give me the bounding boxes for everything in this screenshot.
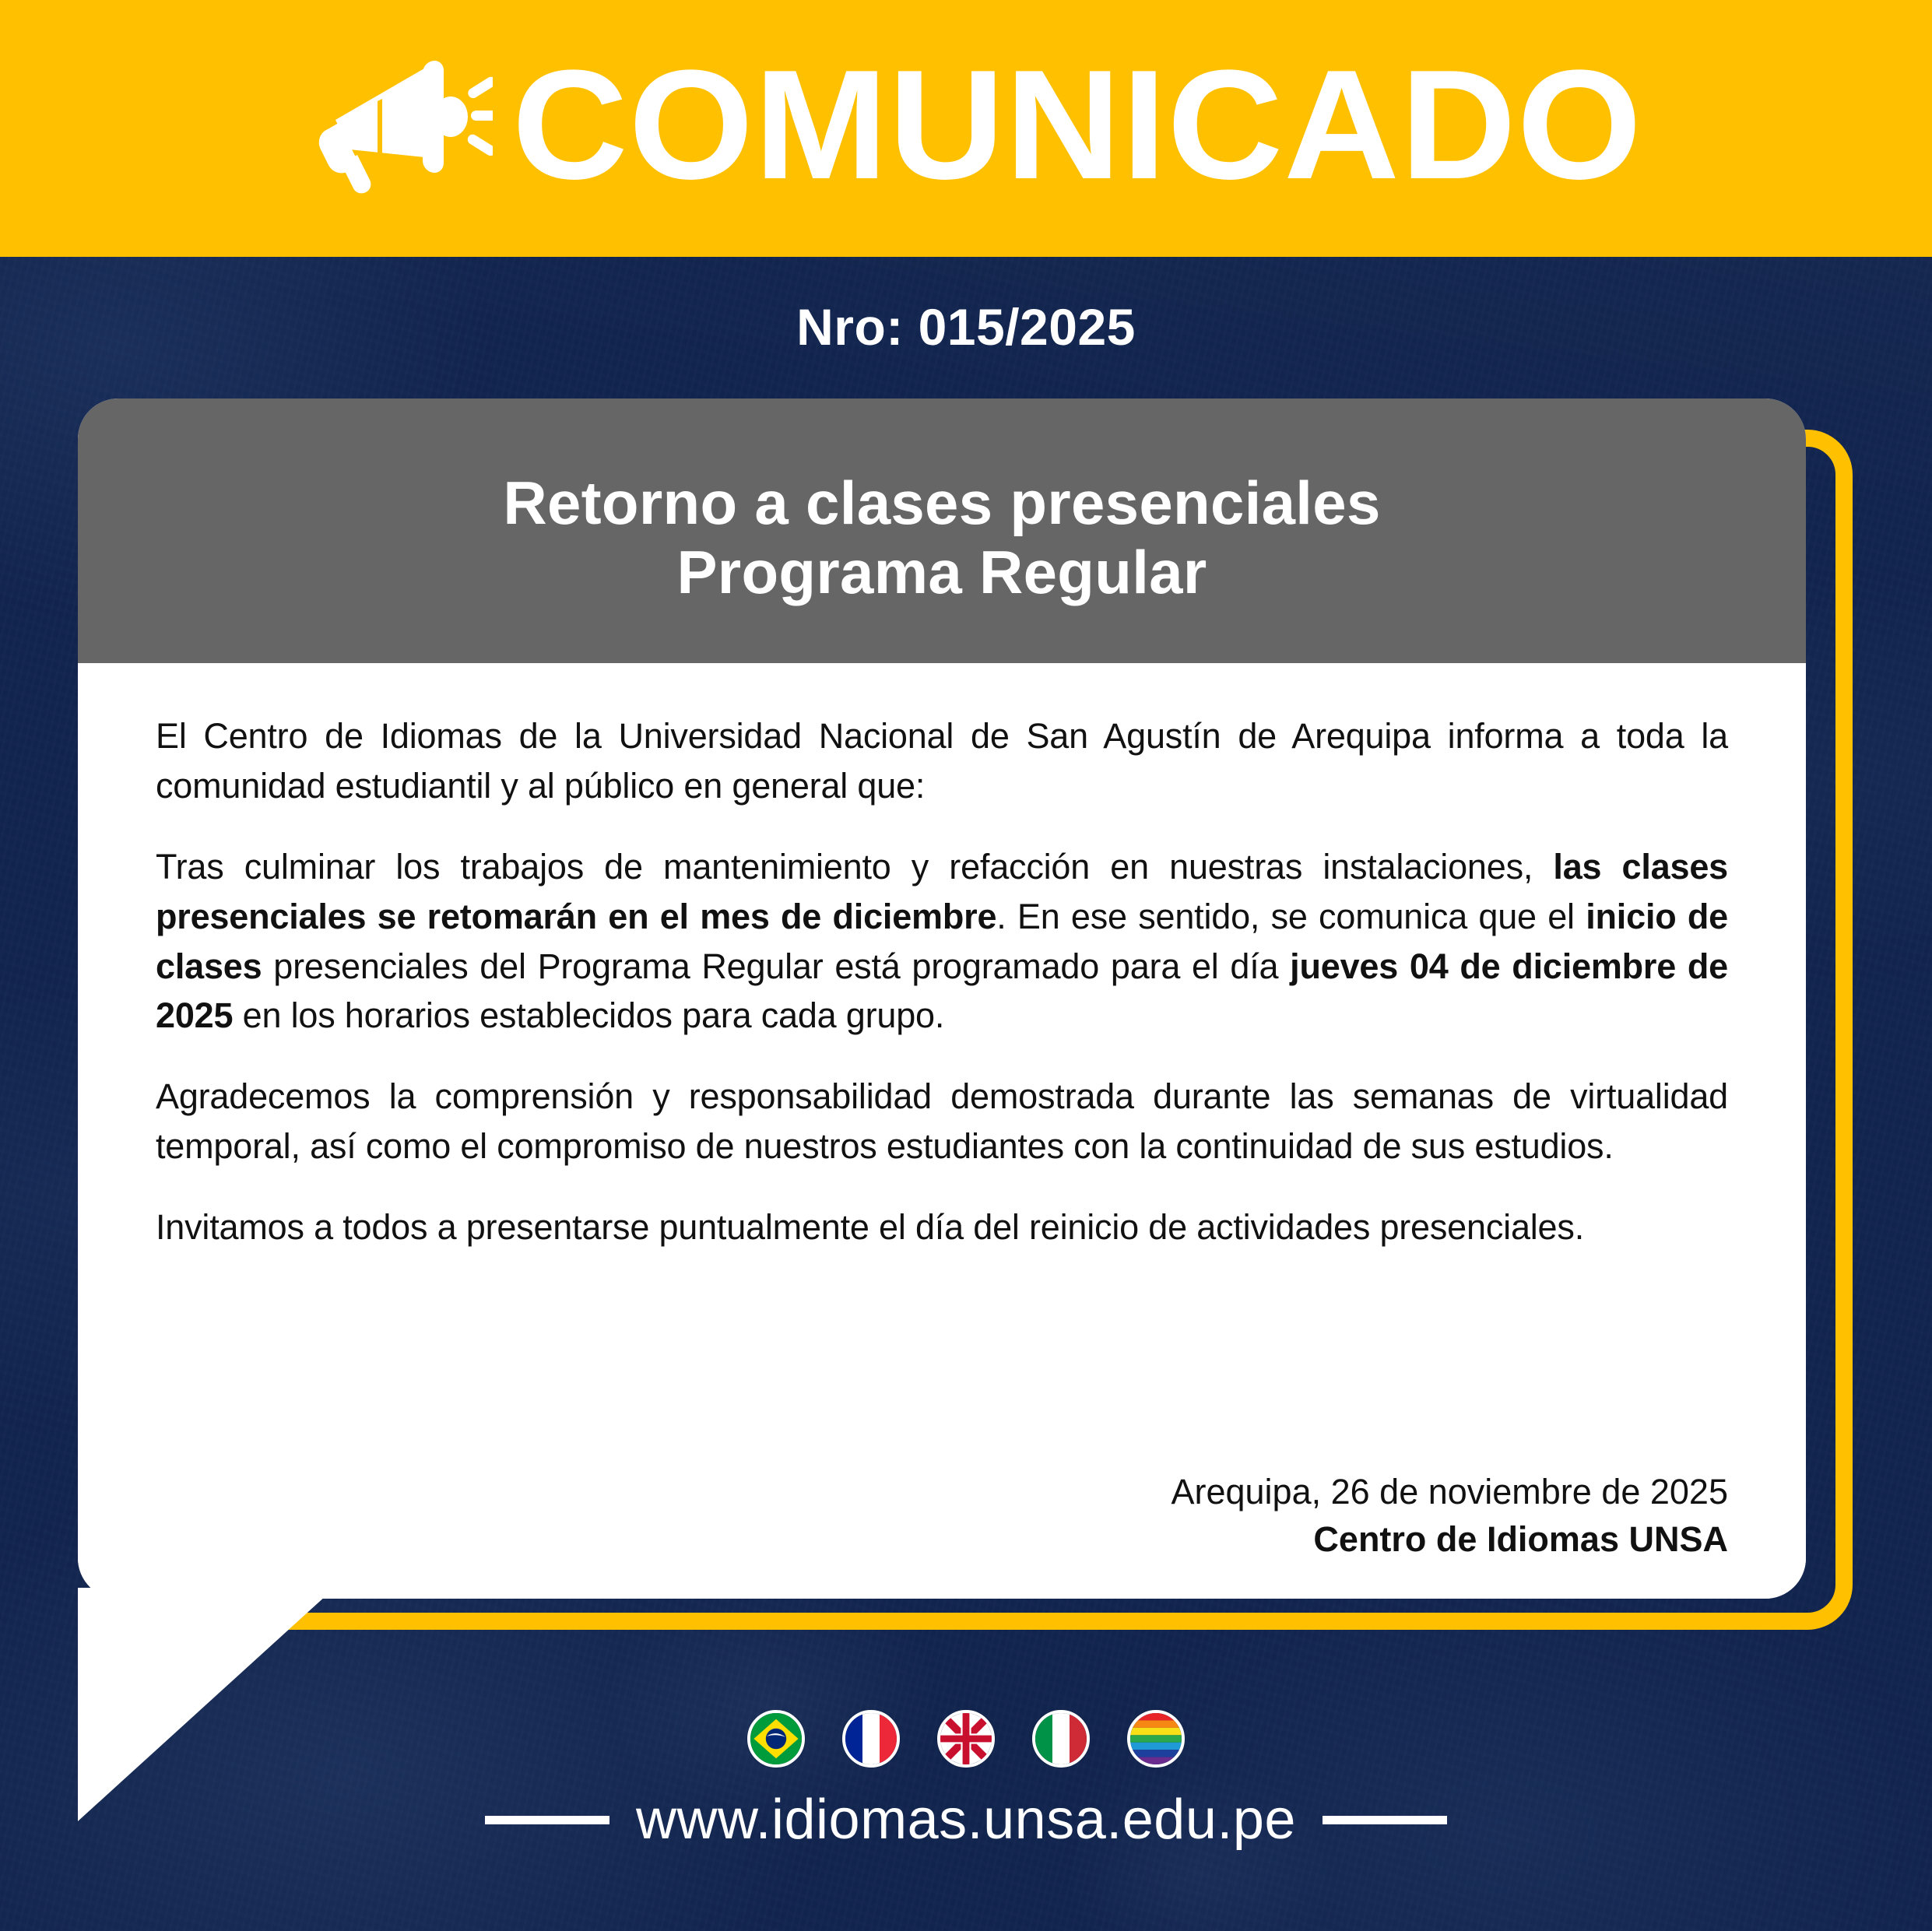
p2-part4: en los horarios establecidos para cada g… bbox=[233, 995, 944, 1035]
flag-united-kingdom-icon bbox=[937, 1710, 995, 1768]
website-url[interactable]: www.idiomas.unsa.edu.pe bbox=[636, 1788, 1296, 1852]
header-title: COMUNICADO bbox=[512, 47, 1642, 203]
paragraph-1: El Centro de Idiomas de la Universidad N… bbox=[156, 711, 1728, 811]
website-row: www.idiomas.unsa.edu.pe bbox=[0, 1788, 1932, 1852]
document-number: Nro: 015/2025 bbox=[0, 297, 1932, 356]
card-body: El Centro de Idiomas de la Universidad N… bbox=[78, 663, 1806, 1599]
signature-block: Arequipa, 26 de noviembre de 2025 Centro… bbox=[1171, 1469, 1728, 1563]
signature-place-date: Arequipa, 26 de noviembre de 2025 bbox=[1171, 1469, 1728, 1515]
language-flags bbox=[747, 1710, 1185, 1768]
card-title-band: Retorno a clases presenciales Programa R… bbox=[78, 398, 1806, 663]
rule-right bbox=[1323, 1816, 1447, 1824]
card-title-line-2: Programa Regular bbox=[676, 538, 1207, 607]
p2-part3: presenciales del Programa Regular está p… bbox=[262, 946, 1290, 986]
footer: www.idiomas.unsa.edu.pe bbox=[0, 1698, 1932, 1931]
paragraph-3: Agradecemos la comprensión y responsabil… bbox=[156, 1072, 1728, 1171]
flag-rainbow-icon bbox=[1127, 1710, 1185, 1768]
poster-canvas: COMUNICADO Nro: 015/2025 Retorno a clase… bbox=[0, 0, 1932, 1931]
signature-organization: Centro de Idiomas UNSA bbox=[1171, 1516, 1728, 1563]
card-title-line-1: Retorno a clases presenciales bbox=[503, 469, 1380, 538]
announcement-card: Retorno a clases presenciales Programa R… bbox=[78, 398, 1806, 1599]
flag-brazil-icon bbox=[747, 1710, 805, 1768]
megaphone-icon bbox=[306, 54, 493, 195]
p2-part2: . En ese sentido, se comunica que el bbox=[996, 897, 1586, 936]
p2-part1: Tras culminar los trabajos de mantenimie… bbox=[156, 847, 1553, 887]
header-banner: COMUNICADO bbox=[0, 0, 1932, 257]
flag-italy-icon bbox=[1032, 1710, 1090, 1768]
flag-france-icon bbox=[842, 1710, 900, 1768]
paragraph-4: Invitamos a todos a presentarse puntualm… bbox=[156, 1202, 1728, 1252]
rule-left bbox=[485, 1816, 609, 1824]
paragraph-2: Tras culminar los trabajos de mantenimie… bbox=[156, 842, 1728, 1041]
